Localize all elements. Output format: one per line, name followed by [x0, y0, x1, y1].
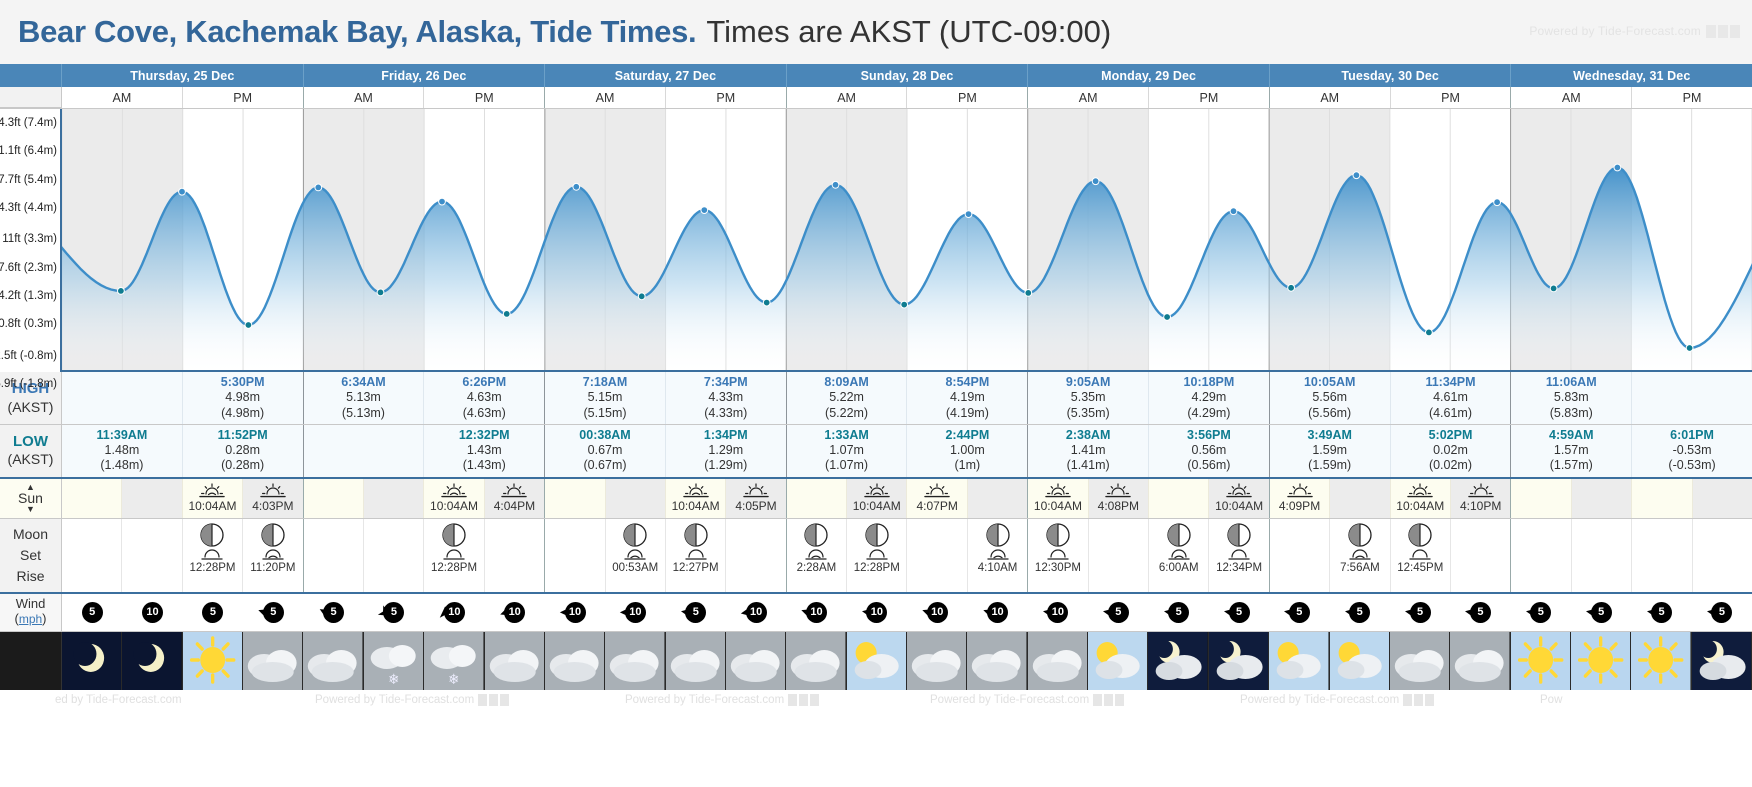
moon-set-label-text: Set	[20, 545, 41, 566]
moon-cell-26	[1632, 519, 1692, 592]
wind-cell-6: ➤10	[424, 594, 484, 631]
wind-speed-badge-17: 5	[1108, 602, 1129, 623]
moon-phase-icon	[1046, 523, 1070, 547]
footer-watermark-text-0: ed by Tide-Forecast.com	[55, 694, 182, 706]
moon-label: Moon Set Rise	[0, 519, 62, 592]
moon-cell-14	[907, 519, 967, 592]
wind-cell-19: ➤5	[1209, 594, 1269, 631]
ampm-cell-0-am: AM	[62, 87, 183, 108]
arrow-down-icon: ▼	[26, 505, 35, 513]
low-tide-time-13: 6:01PM	[1670, 428, 1714, 443]
weather-cell-20	[1269, 632, 1329, 690]
footer-watermark-text-2: Powered by Tide-Forecast.com	[625, 694, 784, 706]
sun-cell-19: 10:04AM	[1209, 479, 1269, 518]
low-tide-time-3: 12:32PM	[459, 428, 510, 443]
moon-phase-icon	[684, 523, 708, 547]
high-tide-time-11: 11:34PM	[1425, 375, 1475, 390]
moon-event-time-9: 00:53AM	[612, 562, 658, 574]
moonrise-icon	[1348, 548, 1372, 561]
moon-cell-9: 00:53AM	[606, 519, 666, 592]
high-tide-time-5: 7:34PM	[704, 375, 748, 390]
low-tide-label: LOW (AKST)	[0, 425, 62, 477]
high-tide-time-2: 6:34AM	[341, 375, 385, 390]
high-tide-cell-1: 5:30PM4.98m(4.98m)	[183, 372, 304, 424]
high-tide-cell-10: 10:05AM5.56m(5.56m)	[1270, 372, 1391, 424]
high-tide-height-4: 5.15m	[588, 390, 623, 405]
y-axis-tick-8: -2.5ft (-0.8m)	[0, 350, 57, 362]
weather-cell-27	[1692, 632, 1752, 690]
low-tide-time-0: 11:39AM	[97, 428, 148, 443]
wind-speed-badge-11: 10	[746, 602, 767, 623]
weather-cell-14	[907, 632, 967, 690]
high-tide-time-4: 7:18AM	[583, 375, 627, 390]
high-tide-cell-3: 6:26PM4.63m(4.63m)	[424, 372, 545, 424]
high-tide-cell-11: 11:34PM4.61m(4.61m)	[1391, 372, 1512, 424]
moon-cell-7	[485, 519, 545, 592]
wind-cell-24: ➤5	[1511, 594, 1571, 631]
weather-icon-cloudy	[666, 632, 725, 690]
high-tide-tz-text: (AKST)	[8, 399, 54, 417]
tide-point-low-16[interactable]	[1164, 314, 1171, 321]
high-tide-height-alt-12: (5.83m)	[1550, 406, 1593, 421]
tide-point-high-7[interactable]	[573, 183, 580, 190]
low-tide-cell-7: 2:44PM1.00m(1m)	[907, 425, 1028, 477]
footer-watermark-2: Powered by Tide-Forecast.com	[625, 694, 819, 706]
weather-icon-partly-cloudy-night	[1148, 632, 1207, 690]
moonrise-icon	[986, 548, 1010, 561]
tide-point-high-23[interactable]	[1614, 164, 1621, 171]
moon-phase-icon	[200, 523, 224, 547]
low-tide-height-6: 1.07m	[829, 443, 864, 458]
weather-icon-cloudy	[605, 632, 664, 690]
wind-speed-badge-10: 5	[685, 602, 706, 623]
tide-point-high-17[interactable]	[1230, 208, 1237, 215]
tide-point-low-10[interactable]	[763, 299, 770, 306]
ampm-cell-4-am: AM	[1028, 87, 1149, 108]
weather-cell-4	[303, 632, 363, 690]
tide-point-high-15[interactable]	[1092, 178, 1099, 185]
sun-label-text: Sun	[18, 491, 43, 505]
low-tide-height-alt-6: (1.07m)	[825, 458, 868, 473]
moon-cell-25	[1572, 519, 1632, 592]
sun-cell-27	[1693, 479, 1752, 518]
wind-speed-badge-21: 5	[1349, 602, 1370, 623]
low-tide-height-13: -0.53m	[1673, 443, 1712, 458]
ampm-cell-0-pm: PM	[183, 87, 304, 108]
weather-cell-13	[847, 632, 907, 690]
wind-speed-badge-12: 10	[806, 602, 827, 623]
weather-cell-24	[1511, 632, 1571, 690]
tide-point-low-2[interactable]	[245, 322, 252, 329]
high-tide-cell-13	[1632, 372, 1752, 424]
wind-speed-badge-8: 10	[565, 602, 586, 623]
sun-cell-2: 10:04AM	[183, 479, 243, 518]
moon-cell-0	[62, 519, 122, 592]
moon-phase-icon	[1167, 523, 1191, 547]
sun-cell-22: 10:04AM	[1391, 479, 1451, 518]
wind-speed-badge-5: 5	[383, 602, 404, 623]
ampm-cell-1-pm: PM	[424, 87, 545, 108]
tide-point-high-3[interactable]	[315, 184, 322, 191]
low-tide-cell-3: 12:32PM1.43m(1.43m)	[424, 425, 545, 477]
wind-cell-8: ➤10	[545, 594, 605, 631]
wind-cell-26: ➤5	[1631, 594, 1691, 631]
wind-speed-badge-24: 5	[1530, 602, 1551, 623]
low-tide-time-1: 11:52PM	[218, 428, 268, 443]
weather-cell-9	[605, 632, 665, 690]
wind-cell-9: ➤10	[605, 594, 665, 631]
high-tide-cell-0	[62, 372, 183, 424]
tide-point-high-9[interactable]	[701, 207, 708, 214]
sun-cell-4	[304, 479, 364, 518]
tide-point-high-5[interactable]	[439, 198, 446, 205]
sun-time-11: 4:05PM	[735, 499, 776, 513]
weather-cells: ❄❄	[62, 632, 1752, 690]
wind-cell-25: ➤5	[1571, 594, 1631, 631]
sun-cell-21	[1330, 479, 1390, 518]
tide-curve-svg	[62, 109, 1752, 372]
sunset-icon	[1287, 483, 1313, 499]
low-tide-height-alt-9: (0.56m)	[1187, 458, 1230, 473]
low-tide-height-alt-5: (1.29m)	[704, 458, 747, 473]
wind-cell-27: ➤5	[1692, 594, 1752, 631]
low-tide-height-9: 0.56m	[1192, 443, 1227, 458]
sunrise-icon	[1407, 483, 1433, 499]
high-tide-height-alt-3: (4.63m)	[463, 406, 506, 421]
low-tide-time-11: 5:02PM	[1429, 428, 1473, 443]
y-axis-tick-7: 0.8ft (0.3m)	[0, 318, 57, 330]
footer-watermark-3: Powered by Tide-Forecast.com	[930, 694, 1124, 706]
wind-unit-link[interactable]: mph	[19, 612, 42, 626]
weather-cell-17	[1088, 632, 1148, 690]
low-tide-time-10: 3:49AM	[1307, 428, 1351, 443]
tide-point-low-6[interactable]	[503, 311, 510, 318]
weather-cell-5: ❄	[364, 632, 424, 690]
low-tide-height-alt-10: (1.59m)	[1308, 458, 1351, 473]
sun-cell-8	[545, 479, 605, 518]
moon-cell-16: 12:30PM	[1028, 519, 1088, 592]
weather-icon-snow: ❄	[364, 632, 423, 690]
low-tide-cell-12: 4:59AM1.57m(1.57m)	[1511, 425, 1632, 477]
wind-speed-badge-4: 5	[323, 602, 344, 623]
low-tide-cell-8: 2:38AM1.41m(1.41m)	[1028, 425, 1149, 477]
powered-by-label: Powered by Tide-Forecast.com	[1529, 24, 1701, 38]
weather-cell-11	[726, 632, 786, 690]
wind-speed-badge-19: 5	[1229, 602, 1250, 623]
high-tide-cell-8: 9:05AM5.35m(5.35m)	[1028, 372, 1149, 424]
sun-cell-25	[1572, 479, 1632, 518]
low-tide-height-12: 1.57m	[1554, 443, 1589, 458]
high-tide-time-8: 9:05AM	[1066, 375, 1110, 390]
moon-cell-8	[545, 519, 605, 592]
wind-speed-badge-7: 10	[504, 602, 525, 623]
footer-watermark-1: Powered by Tide-Forecast.com	[315, 694, 509, 706]
high-tide-time-10: 10:05AM	[1304, 375, 1355, 390]
day-header-6: Wednesday, 31 Dec	[1511, 64, 1752, 87]
low-tide-height-4: 0.67m	[588, 443, 623, 458]
low-tide-cell-9: 3:56PM0.56m(0.56m)	[1149, 425, 1270, 477]
weather-cell-10	[666, 632, 726, 690]
wind-speed-badge-2: 5	[202, 602, 223, 623]
moon-cell-20	[1270, 519, 1330, 592]
moon-cell-19: 12:34PM	[1209, 519, 1269, 592]
moon-cell-1	[122, 519, 182, 592]
low-tide-cell-1: 11:52PM0.28m(0.28m)	[183, 425, 304, 477]
tide-point-high-19[interactable]	[1353, 172, 1360, 179]
weather-icon-sunny-cloud	[1330, 632, 1389, 690]
moonrise-icon	[261, 548, 285, 561]
high-tide-time-3: 6:26PM	[462, 375, 506, 390]
footer-watermark-0: ed by Tide-Forecast.com	[55, 694, 182, 706]
moon-cell-27	[1693, 519, 1752, 592]
sun-cell-9	[606, 479, 666, 518]
day-header-2: Saturday, 27 Dec	[545, 64, 787, 87]
tide-point-high-1[interactable]	[179, 188, 186, 195]
weather-cell-0	[62, 632, 122, 690]
moon-cell-24	[1511, 519, 1571, 592]
sunset-icon	[501, 483, 527, 499]
moonrise-icon	[804, 548, 828, 561]
y-axis-tick-9: -5.9ft (-1.8m)	[0, 378, 57, 390]
sun-time-2: 10:04AM	[188, 499, 236, 513]
tide-point-high-13[interactable]	[965, 211, 972, 218]
weather-icon-partly-sunny	[847, 632, 906, 690]
weather-cell-23	[1450, 632, 1510, 690]
weather-icon-snow: ❄	[424, 632, 483, 690]
footer-watermark-text-1: Powered by Tide-Forecast.com	[315, 694, 474, 706]
high-tide-height-alt-9: (4.29m)	[1187, 406, 1230, 421]
footer-watermark-text-3: Powered by Tide-Forecast.com	[930, 694, 1089, 706]
wind-cell-22: ➤5	[1390, 594, 1450, 631]
footer-watermark-text-5: Pow	[1540, 694, 1562, 706]
low-tide-time-6: 1:33AM	[824, 428, 868, 443]
tide-point-low-20[interactable]	[1426, 329, 1433, 336]
low-tide-height-alt-0: (1.48m)	[100, 458, 143, 473]
high-tide-height-alt-4: (5.15m)	[583, 406, 626, 421]
tide-point-low-14[interactable]	[1025, 290, 1032, 297]
high-tide-height-alt-8: (5.35m)	[1067, 406, 1110, 421]
day-header-spacer	[0, 64, 62, 87]
weather-cell-22	[1390, 632, 1450, 690]
weather-cell-8	[545, 632, 605, 690]
low-tide-height-alt-8: (1.41m)	[1067, 458, 1110, 473]
wind-cell-16: ➤10	[1028, 594, 1088, 631]
moon-cell-12: 2:28AM	[787, 519, 847, 592]
high-tide-height-6: 5.22m	[829, 390, 864, 405]
weather-icon-partly-sunny	[1088, 632, 1147, 690]
powered-by-watermark-top: Powered by Tide-Forecast.com	[1529, 24, 1740, 38]
wind-label-text: Wind	[16, 597, 46, 612]
sun-cell-13: 10:04AM	[847, 479, 907, 518]
tide-point-low-12[interactable]	[901, 301, 908, 308]
wind-cell-18: ➤5	[1148, 594, 1208, 631]
moon-event-time-22: 12:45PM	[1397, 562, 1443, 574]
svg-text:❄: ❄	[388, 671, 399, 686]
low-tide-cell-4: 00:38AM0.67m(0.67m)	[545, 425, 666, 477]
weather-icon-partly-cloudy-night	[1209, 632, 1268, 690]
wind-speed-badge-20: 5	[1289, 602, 1310, 623]
ampm-cell-6-am: AM	[1511, 87, 1632, 108]
high-tide-time-1: 5:30PM	[221, 375, 265, 390]
wind-cell-7: ➤10	[485, 594, 545, 631]
moon-event-time-10: 12:27PM	[673, 562, 719, 574]
sunset-icon	[743, 483, 769, 499]
svg-text:❄: ❄	[448, 671, 459, 686]
ampm-cell-3-pm: PM	[907, 87, 1028, 108]
high-tide-height-alt-7: (4.19m)	[946, 406, 989, 421]
moon-event-time-15: 4:10AM	[978, 562, 1018, 574]
weather-icon-sunny	[1631, 632, 1690, 690]
weather-cell-15	[967, 632, 1027, 690]
sun-time-19: 10:04AM	[1215, 499, 1263, 513]
wind-speed-badge-3: 5	[263, 602, 284, 623]
ampm-cell-2-pm: PM	[666, 87, 787, 108]
weather-cell-3	[243, 632, 303, 690]
y-axis-tick-1: 21.1ft (6.4m)	[0, 145, 57, 157]
moon-cell-4	[304, 519, 364, 592]
y-axis-tick-2: 17.7ft (5.4m)	[0, 174, 57, 186]
moon-phase-icon	[261, 523, 285, 547]
weather-icon-cloudy	[1450, 632, 1509, 690]
wind-unit-label[interactable]: (mph)	[14, 612, 46, 627]
weather-icon-sunny-cloud	[1269, 632, 1328, 690]
moon-cell-11	[726, 519, 786, 592]
footer-logo-blocks-icon-2	[788, 694, 819, 706]
ampm-cell-2-am: AM	[545, 87, 666, 108]
moon-event-time-18: 6:00AM	[1159, 562, 1199, 574]
low-tide-height-alt-4: (0.67m)	[583, 458, 626, 473]
wind-cell-17: ➤5	[1088, 594, 1148, 631]
high-tide-time-9: 10:18PM	[1184, 375, 1235, 390]
high-tide-time-7: 8:54PM	[945, 375, 989, 390]
wind-cell-2: 5	[183, 594, 243, 631]
low-tide-height-alt-11: (0.02m)	[1429, 458, 1472, 473]
low-tide-height-alt-3: (1.43m)	[463, 458, 506, 473]
wind-speed-badge-27: 5	[1711, 602, 1732, 623]
tide-point-low-8[interactable]	[638, 293, 645, 300]
moon-row: Moon Set Rise 12:28PM11:20PM12:28PM00:53…	[0, 519, 1752, 594]
sun-cell-26	[1632, 479, 1692, 518]
low-tide-height-alt-1: (0.28m)	[221, 458, 264, 473]
low-tide-height-1: 0.28m	[225, 443, 260, 458]
high-tide-row: HIGH (AKST) 5:30PM4.98m(4.98m)6:34AM5.13…	[0, 372, 1752, 425]
sunrise-icon	[199, 483, 225, 499]
sun-cell-17: 4:08PM	[1089, 479, 1149, 518]
moon-phase-icon	[623, 523, 647, 547]
wind-speed-badge-0: 5	[82, 602, 103, 623]
wind-cell-3: ➤5	[243, 594, 303, 631]
tide-forecast-page: Bear Cove, Kachemak Bay, Alaska, Tide Ti…	[0, 0, 1752, 787]
high-tide-height-11: 4.61m	[1433, 390, 1468, 405]
tide-point-low-4[interactable]	[377, 289, 384, 296]
tide-point-low-22[interactable]	[1550, 285, 1557, 292]
moon-event-time-19: 12:34PM	[1216, 562, 1262, 574]
low-tide-height-0: 1.48m	[105, 443, 140, 458]
weather-cell-2	[183, 632, 243, 690]
low-tide-cell-11: 5:02PM0.02m(0.02m)	[1391, 425, 1512, 477]
moon-rise-label-text: Rise	[16, 566, 44, 587]
tide-point-high-11[interactable]	[832, 181, 839, 188]
moon-cell-10: 12:27PM	[666, 519, 726, 592]
high-tide-height-alt-10: (5.56m)	[1308, 406, 1351, 421]
tide-point-low-18[interactable]	[1288, 284, 1295, 291]
moon-cell-2: 12:28PM	[183, 519, 243, 592]
weather-cell-1	[122, 632, 182, 690]
page-header: Bear Cove, Kachemak Bay, Alaska, Tide Ti…	[0, 0, 1752, 64]
wind-speed-badge-13: 10	[866, 602, 887, 623]
wind-cell-13: ➤10	[847, 594, 907, 631]
wind-cell-0: 5	[62, 594, 122, 631]
day-header-0: Thursday, 25 Dec	[62, 64, 304, 87]
weather-cell-19	[1209, 632, 1269, 690]
y-axis-tick-6: 4.2ft (1.3m)	[0, 290, 57, 302]
weather-icon-cloudy	[1028, 632, 1087, 690]
weather-icon-cloudy	[786, 632, 845, 690]
moon-phase-icon	[1408, 523, 1432, 547]
high-tide-height-10: 5.56m	[1312, 390, 1347, 405]
low-tide-cell-13: 6:01PM-0.53m(-0.53m)	[1632, 425, 1752, 477]
weather-icon-cloudy	[967, 632, 1026, 690]
high-tide-height-alt-11: (4.61m)	[1429, 406, 1472, 421]
weather-cell-16	[1028, 632, 1088, 690]
low-tide-height-alt-12: (1.57m)	[1550, 458, 1593, 473]
weather-icon-clear-night	[62, 632, 121, 690]
wind-cell-14: ➤10	[907, 594, 967, 631]
moonset-icon	[442, 548, 466, 561]
sun-time-16: 10:04AM	[1034, 499, 1082, 513]
moon-label-text: Moon	[13, 524, 48, 545]
sun-cell-15	[968, 479, 1028, 518]
tide-point-low-24[interactable]	[1686, 345, 1693, 352]
sunset-icon	[260, 483, 286, 499]
sun-cell-1	[122, 479, 182, 518]
weather-icon-clear-night	[122, 632, 181, 690]
sunset-icon	[924, 483, 950, 499]
moon-event-time-16: 12:30PM	[1035, 562, 1081, 574]
tide-point-low-0[interactable]	[118, 288, 125, 295]
moon-phase-icon	[442, 523, 466, 547]
tide-point-high-21[interactable]	[1494, 199, 1501, 206]
tide-curve-plot	[62, 109, 1752, 372]
sun-time-14: 4:07PM	[916, 499, 957, 513]
weather-icon-sunny	[1511, 632, 1570, 690]
moon-cell-13: 12:28PM	[847, 519, 907, 592]
high-tide-height-3: 4.63m	[467, 390, 502, 405]
sun-cell-5	[364, 479, 424, 518]
low-tide-time-9: 3:56PM	[1187, 428, 1231, 443]
weather-icon-cloudy	[485, 632, 544, 690]
wind-row: Wind (mph) 5105➤5➤5➤5➤10➤10➤10➤10➤5➤10➤1…	[0, 594, 1752, 632]
low-tide-time-7: 2:44PM	[945, 428, 989, 443]
sun-cell-6: 10:04AM	[424, 479, 484, 518]
weather-icon-partly-cloudy-night	[1692, 632, 1751, 690]
high-tide-cell-12: 11:06AM5.83m(5.83m)	[1511, 372, 1632, 424]
wind-cell-11: ➤10	[726, 594, 786, 631]
low-tide-time-5: 1:34PM	[704, 428, 748, 443]
moon-event-time-3: 11:20PM	[250, 562, 295, 574]
weather-icon-cloudy	[243, 632, 302, 690]
sun-time-3: 4:03PM	[252, 499, 293, 513]
sun-cell-16: 10:04AM	[1028, 479, 1088, 518]
weather-cell-6: ❄	[424, 632, 484, 690]
wind-cell-23: ➤5	[1450, 594, 1510, 631]
wind-cell-4: ➤5	[303, 594, 363, 631]
wind-label: Wind (mph)	[0, 594, 62, 631]
moonset-icon	[1408, 548, 1432, 561]
sun-time-13: 10:04AM	[853, 499, 901, 513]
sun-cell-3: 4:03PM	[243, 479, 303, 518]
high-tide-cell-6: 8:09AM5.22m(5.22m)	[787, 372, 908, 424]
